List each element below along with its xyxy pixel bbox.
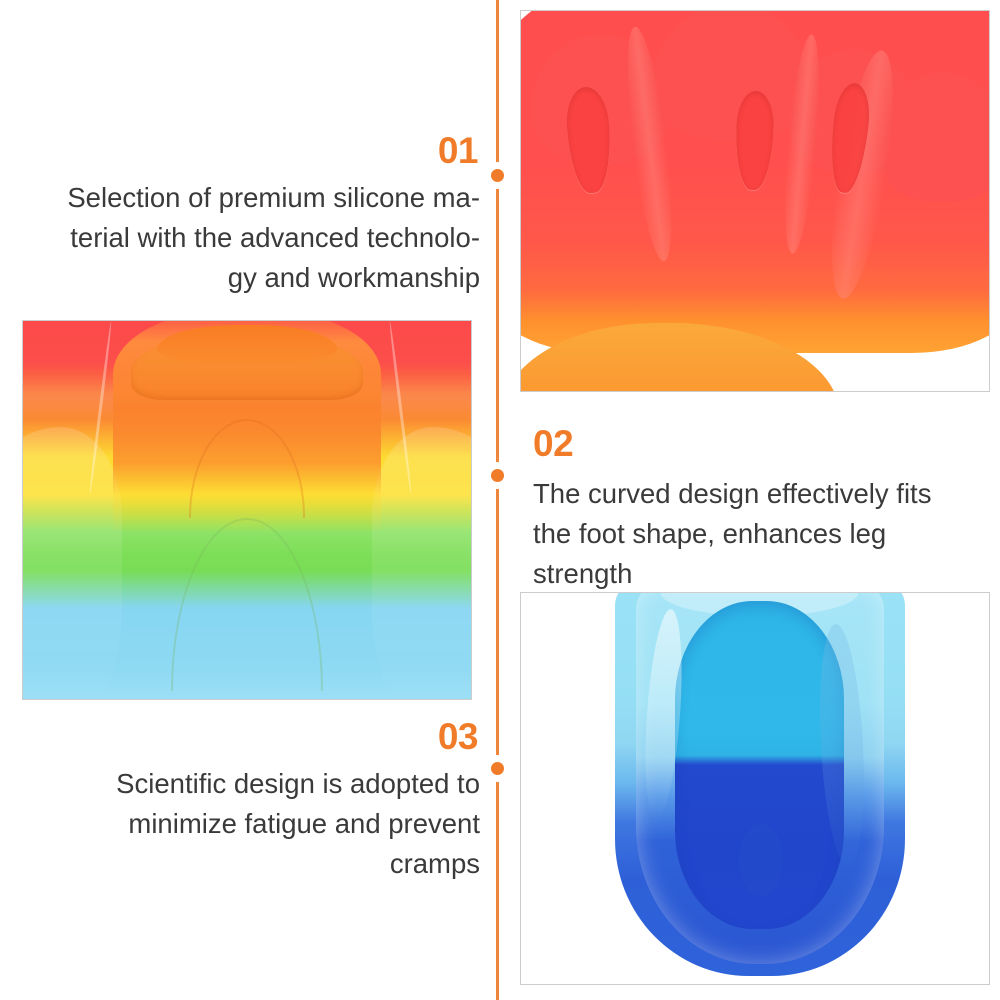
photo-blue-fin-closeup	[520, 592, 990, 985]
rainbow-fin-blade-right	[372, 427, 472, 700]
feature-text-02-line-2: the foot shape, enhances leg	[533, 514, 973, 554]
infographic-canvas: 01 Selection of premium silicone ma- ter…	[0, 0, 1000, 1000]
feature-number-03: 03	[30, 718, 478, 755]
blue-fin-heel-shadow	[739, 824, 783, 896]
feature-text-01-line-3: gy and workmanship	[30, 258, 480, 298]
feature-block-02: 02 The curved design effectively fits th…	[533, 425, 973, 594]
timeline-dot-01	[491, 169, 504, 182]
feature-text-03: Scientific design is adopted to minimize…	[30, 764, 480, 884]
rainbow-fin-scene	[23, 321, 471, 699]
blue-fin-foot-pocket	[675, 601, 843, 929]
red-fin-scene	[521, 11, 989, 391]
feature-number-01: 01	[30, 132, 478, 169]
photo-red-fin-closeup	[520, 10, 990, 392]
feature-text-01-line-1: Selection of premium silicone ma-	[30, 178, 480, 218]
feature-block-01: 01 Selection of premium silicone ma- ter…	[30, 132, 480, 298]
rainbow-fin-blade-left	[22, 427, 122, 700]
feature-text-02-line-3: strength	[533, 554, 973, 594]
feature-text-03-line-3: cramps	[30, 844, 480, 884]
blue-fin-scene	[521, 593, 989, 984]
rainbow-fin-pocket-opening	[157, 325, 336, 363]
feature-text-03-line-1: Scientific design is adopted to	[30, 764, 480, 804]
feature-text-01: Selection of premium silicone ma- terial…	[30, 178, 480, 298]
feature-text-03-line-2: minimize fatigue and prevent	[30, 804, 480, 844]
timeline-vertical-line	[496, 0, 499, 1000]
feature-text-02: The curved design effectively fits the f…	[533, 474, 973, 594]
photo-rainbow-fin-closeup	[22, 320, 472, 700]
feature-text-01-line-2: terial with the advanced technolo-	[30, 218, 480, 258]
timeline-dot-03	[491, 762, 504, 775]
feature-text-02-line-1: The curved design effectively fits	[533, 474, 973, 514]
feature-block-03: 03 Scientific design is adopted to minim…	[30, 718, 480, 884]
timeline-dot-02	[491, 469, 504, 482]
feature-number-02: 02	[533, 425, 973, 462]
